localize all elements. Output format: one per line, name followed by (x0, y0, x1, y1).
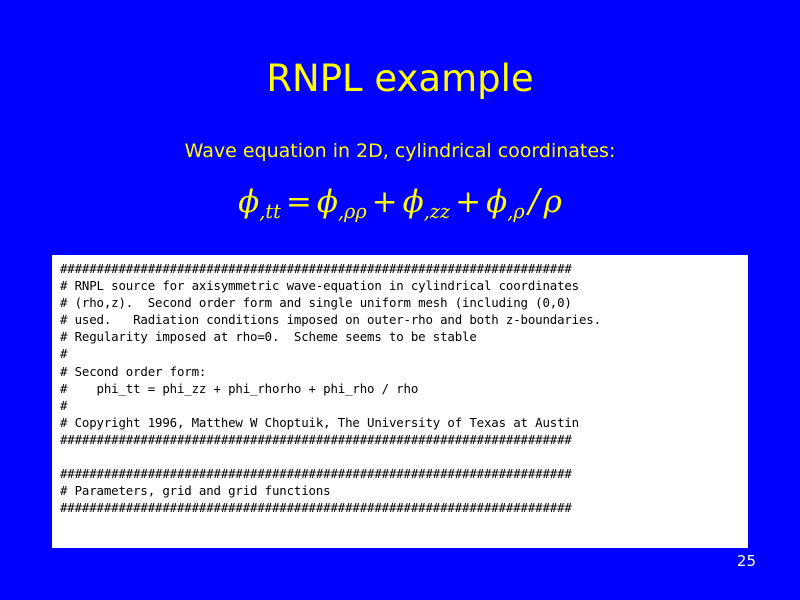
equation-phi-rhorho: ϕ (317, 184, 338, 220)
code-listing-text: ########################################… (52, 255, 748, 516)
equation-subscript-rho: ,ρ (507, 200, 524, 223)
equation-rho-denominator: ρ (544, 184, 562, 220)
equation-subscript-rhorho: ,ρρ (338, 200, 367, 223)
equation-subscript-tt: ,tt (259, 200, 281, 223)
wave-equation-formula: ϕ,tt=ϕ,ρρ+ϕ,zz+ϕ,ρ/ρ (0, 180, 800, 233)
equation-plus-sign-2: + (450, 184, 486, 220)
code-listing-panel: ########################################… (52, 255, 748, 548)
equation-phi-zz: ϕ (403, 184, 424, 220)
equation-plus-sign-1: + (367, 184, 403, 220)
equation-phi-tt: ϕ (238, 184, 259, 220)
equation-equals-sign: = (281, 184, 317, 220)
equation-phi-rho: ϕ (486, 184, 507, 220)
slide-subtitle: Wave equation in 2D, cylindrical coordin… (0, 139, 800, 163)
equation-subscript-zz: ,zz (424, 200, 450, 223)
page-number: 25 (737, 552, 756, 570)
page-title: RNPL example (0, 57, 800, 101)
slide-canvas: RNPL example Wave equation in 2D, cylind… (0, 0, 800, 600)
equation-division-slash: / (525, 182, 544, 220)
